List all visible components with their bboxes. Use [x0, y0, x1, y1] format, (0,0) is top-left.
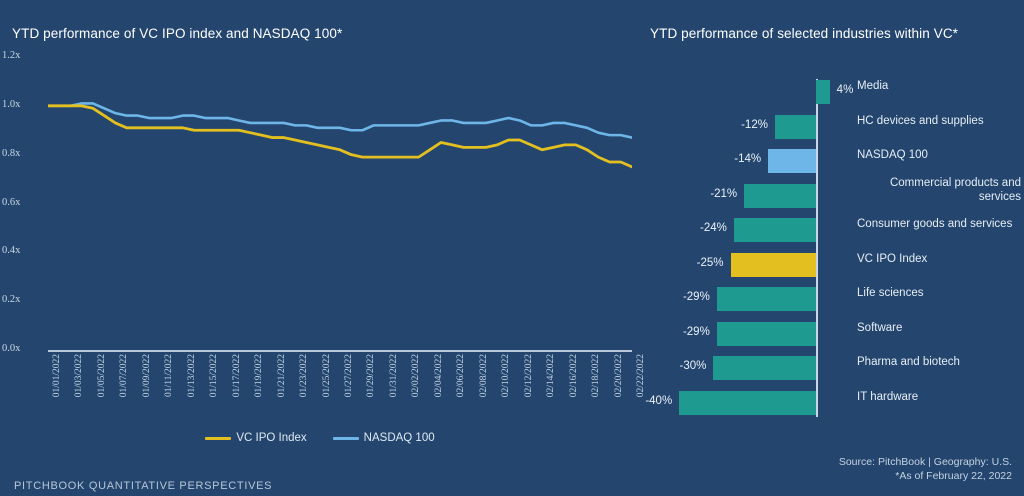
right-chart-title: YTD performance of selected industries w…	[650, 26, 958, 41]
bar-category-label: IT hardware	[857, 390, 1021, 404]
x-axis-tick: 02/16/2022	[569, 354, 579, 397]
bar-value-label: -29%	[640, 326, 710, 338]
left-chart-title: YTD performance of VC IPO index and NASD…	[12, 26, 342, 41]
line-chart-y-axis: 0.0x0.2x0.4x0.6x0.8x1.0x1.2x	[0, 0, 46, 496]
legend-item[interactable]: NASDAQ 100	[333, 432, 435, 444]
bar-value-label: -25%	[640, 257, 724, 269]
legend-item[interactable]: VC IPO Index	[205, 432, 306, 444]
y-axis-tick: 0.2x	[2, 294, 46, 305]
bar-chart-row[interactable]: -21%Commercial products andservices	[640, 179, 1024, 214]
bar	[816, 80, 830, 104]
bar-value-label: -12%	[640, 119, 768, 131]
x-axis-tick: 02/10/2022	[501, 354, 511, 397]
x-axis-tick: 01/27/2022	[344, 354, 354, 397]
bar	[744, 184, 816, 208]
bar-category-label: Consumer goods and services	[857, 217, 1021, 231]
bar-category-label: VC IPO Index	[857, 252, 1021, 266]
source-line-2: *As of February 22, 2022	[839, 469, 1012, 483]
x-axis-tick: 02/18/2022	[591, 354, 601, 397]
bar-category-label-line: Commercial products and	[857, 176, 1021, 190]
bar-value-label: -14%	[640, 153, 761, 165]
x-axis-tick: 01/29/2022	[366, 354, 376, 397]
source-note: Source: PitchBook | Geography: U.S. *As …	[839, 455, 1012, 483]
bar-chart-row[interactable]: -29%Software	[640, 317, 1024, 352]
x-axis-tick: 01/13/2022	[187, 354, 197, 397]
x-axis-tick: 01/15/2022	[209, 354, 219, 397]
bar-category-label-line: Consumer goods and services	[857, 217, 1021, 231]
bar	[679, 391, 816, 415]
legend-swatch-icon	[205, 437, 231, 440]
bar-chart-row[interactable]: -12%HC devices and supplies	[640, 110, 1024, 145]
bar-category-label-line: IT hardware	[857, 390, 1021, 404]
y-axis-tick: 0.8x	[2, 148, 46, 159]
x-axis-tick: 01/07/2022	[119, 354, 129, 397]
x-axis-tick: 01/31/2022	[389, 354, 399, 397]
y-axis-tick: 0.4x	[2, 245, 46, 256]
bar-chart-plot: 4%Media-12%HC devices and supplies-14%NA…	[640, 75, 1024, 420]
source-line-1: Source: PitchBook | Geography: U.S.	[839, 455, 1012, 469]
y-axis-tick: 0.6x	[2, 197, 46, 208]
brand-footer: PITCHBOOK QUANTITATIVE PERSPECTIVES	[14, 480, 272, 492]
bar-category-label-line: Life sciences	[857, 286, 1021, 300]
y-axis-tick: 0.0x	[2, 343, 46, 354]
bar-category-label-line: Media	[857, 79, 1021, 93]
y-axis-tick: 1.0x	[2, 99, 46, 110]
bar-chart-row[interactable]: -30%Pharma and biotech	[640, 351, 1024, 386]
line-chart-svg	[48, 57, 632, 350]
legend-label: VC IPO Index	[236, 432, 306, 444]
bar-value-label: -24%	[640, 222, 727, 234]
bar	[734, 218, 816, 242]
bar-category-label-line: Software	[857, 321, 1021, 335]
bar-category-label-line: NASDAQ 100	[857, 148, 1021, 162]
line-chart-baseline	[48, 350, 632, 352]
x-axis-tick: 01/19/2022	[254, 354, 264, 397]
bar-chart-row[interactable]: -29%Life sciences	[640, 282, 1024, 317]
bar-chart-row[interactable]: 4%Media	[640, 75, 1024, 110]
x-axis-tick: 02/20/2022	[614, 354, 624, 397]
x-axis-tick: 01/23/2022	[299, 354, 309, 397]
bar-category-label: Pharma and biotech	[857, 355, 1021, 369]
x-axis-tick: 01/11/2022	[164, 354, 174, 397]
bar-category-label: Commercial products andservices	[857, 176, 1021, 204]
bar	[713, 356, 816, 380]
series-line-nasdaq-100	[48, 103, 632, 137]
bar	[717, 322, 816, 346]
x-axis-tick: 01/09/2022	[142, 354, 152, 397]
x-axis-tick: 02/14/2022	[546, 354, 556, 397]
x-axis-tick: 01/03/2022	[74, 354, 84, 397]
line-chart-x-axis: 01/01/202201/03/202201/05/202201/07/2022…	[48, 354, 632, 424]
bar-value-label: 4%	[837, 84, 854, 96]
bar-value-label: -40%	[640, 395, 672, 407]
bar-category-label: Software	[857, 321, 1021, 335]
bar-category-label: NASDAQ 100	[857, 148, 1021, 162]
x-axis-tick: 01/05/2022	[97, 354, 107, 397]
x-axis-tick: 01/21/2022	[277, 354, 287, 397]
x-axis-tick: 02/04/2022	[434, 354, 444, 397]
bar-value-label: -30%	[640, 360, 706, 372]
x-axis-tick: 02/08/2022	[479, 354, 489, 397]
x-axis-tick: 02/06/2022	[456, 354, 466, 397]
x-axis-tick: 01/17/2022	[232, 354, 242, 397]
bar	[731, 253, 817, 277]
bar-value-label: -29%	[640, 291, 710, 303]
line-chart-panel: YTD performance of VC IPO index and NASD…	[0, 0, 640, 496]
bar-chart-row[interactable]: -25%VC IPO Index	[640, 248, 1024, 283]
bar-category-label: Life sciences	[857, 286, 1021, 300]
bar-chart-panel: YTD performance of selected industries w…	[640, 0, 1024, 496]
bar	[775, 115, 816, 139]
bar-category-label-line: HC devices and supplies	[857, 114, 1021, 128]
x-axis-tick: 02/02/2022	[411, 354, 421, 397]
bar-value-label: -21%	[640, 188, 737, 200]
bar	[717, 287, 816, 311]
x-axis-tick: 02/12/2022	[524, 354, 534, 397]
legend-swatch-icon	[333, 437, 359, 440]
bar-chart-row[interactable]: -14%NASDAQ 100	[640, 144, 1024, 179]
bar-category-label-line: Pharma and biotech	[857, 355, 1021, 369]
line-chart-legend: VC IPO IndexNASDAQ 100	[0, 432, 640, 444]
bar-chart-row[interactable]: -40%IT hardware	[640, 386, 1024, 421]
x-axis-tick: 01/25/2022	[322, 354, 332, 397]
bar-category-label-line: services	[857, 190, 1021, 204]
x-axis-tick: 01/01/2022	[52, 354, 62, 397]
line-chart-plot	[48, 57, 632, 350]
bar	[768, 149, 816, 173]
bar-category-label: HC devices and supplies	[857, 114, 1021, 128]
bar-chart-row[interactable]: -24%Consumer goods and services	[640, 213, 1024, 248]
bar-category-label-line: VC IPO Index	[857, 252, 1021, 266]
y-axis-tick: 1.2x	[2, 50, 46, 61]
bar-category-label: Media	[857, 79, 1021, 93]
legend-label: NASDAQ 100	[364, 432, 435, 444]
